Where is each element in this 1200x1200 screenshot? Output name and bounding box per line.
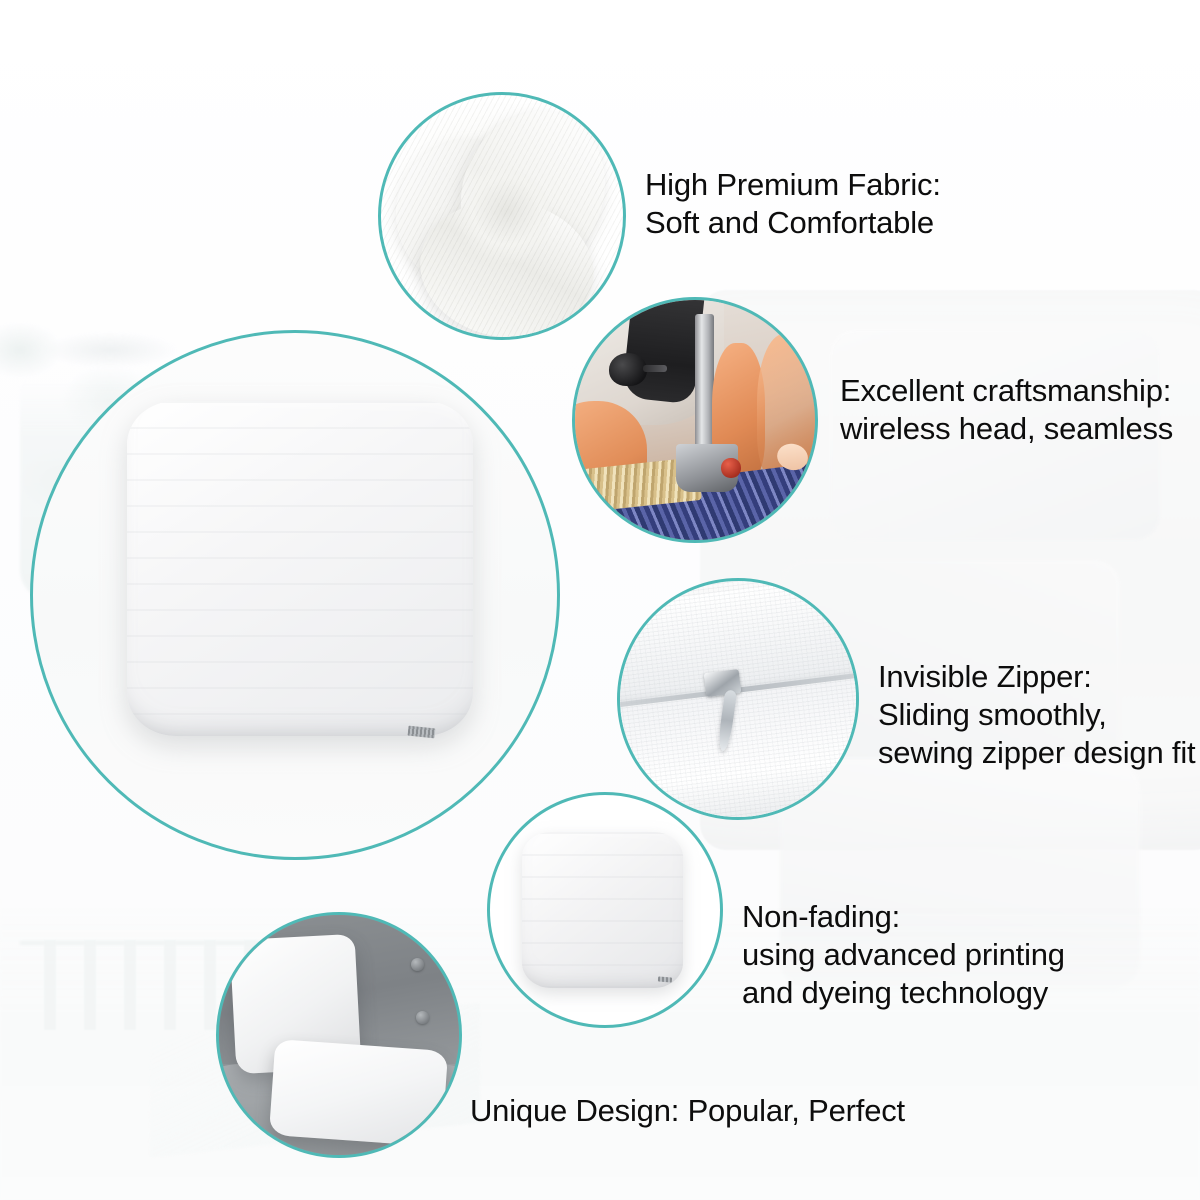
feature-circle-craftsmanship	[572, 297, 818, 543]
feature-label-unique-design: Unique Design: Popular, Perfect	[470, 1092, 905, 1130]
red-button	[721, 458, 740, 477]
pillows-on-sofa-icon	[219, 915, 459, 1155]
feature-label-zipper: Invisible Zipper: Sliding smoothly, sewi…	[878, 658, 1195, 771]
feature-label-non-fading: Non-fading: using advanced printing and …	[742, 898, 1065, 1011]
feature-label-craftsmanship: Excellent craftsmanship: wireless head, …	[840, 372, 1173, 448]
flat-pillow	[269, 1039, 448, 1147]
feature-circle-zipper	[617, 578, 859, 820]
feature-circle-non-fading	[487, 792, 723, 1028]
hero-product-circle	[30, 330, 560, 860]
white-pillow-icon	[490, 795, 720, 1025]
sewing-machine-icon	[575, 300, 815, 540]
pillow-brand-tag	[407, 726, 435, 739]
pillow-stripe-texture	[522, 832, 683, 988]
pillow-body	[522, 832, 683, 988]
feature-circle-unique-design	[216, 912, 462, 1158]
infographic-canvas: High Premium Fabric: Soft and Comfortabl…	[0, 0, 1200, 1200]
pillow-stripe-texture	[127, 401, 473, 736]
sewing-machine-head	[621, 297, 706, 404]
feature-label-fabric: High Premium Fabric: Soft and Comfortabl…	[645, 166, 941, 242]
white-square-pillow-icon	[127, 401, 473, 736]
invisible-zipper-icon	[620, 581, 856, 817]
sewing-machine-knob	[609, 353, 647, 387]
pillow-brand-tag	[658, 976, 672, 982]
hero-product-photo	[33, 333, 557, 857]
zipper-slider	[704, 669, 742, 697]
zipper-fabric-texture	[620, 581, 856, 817]
